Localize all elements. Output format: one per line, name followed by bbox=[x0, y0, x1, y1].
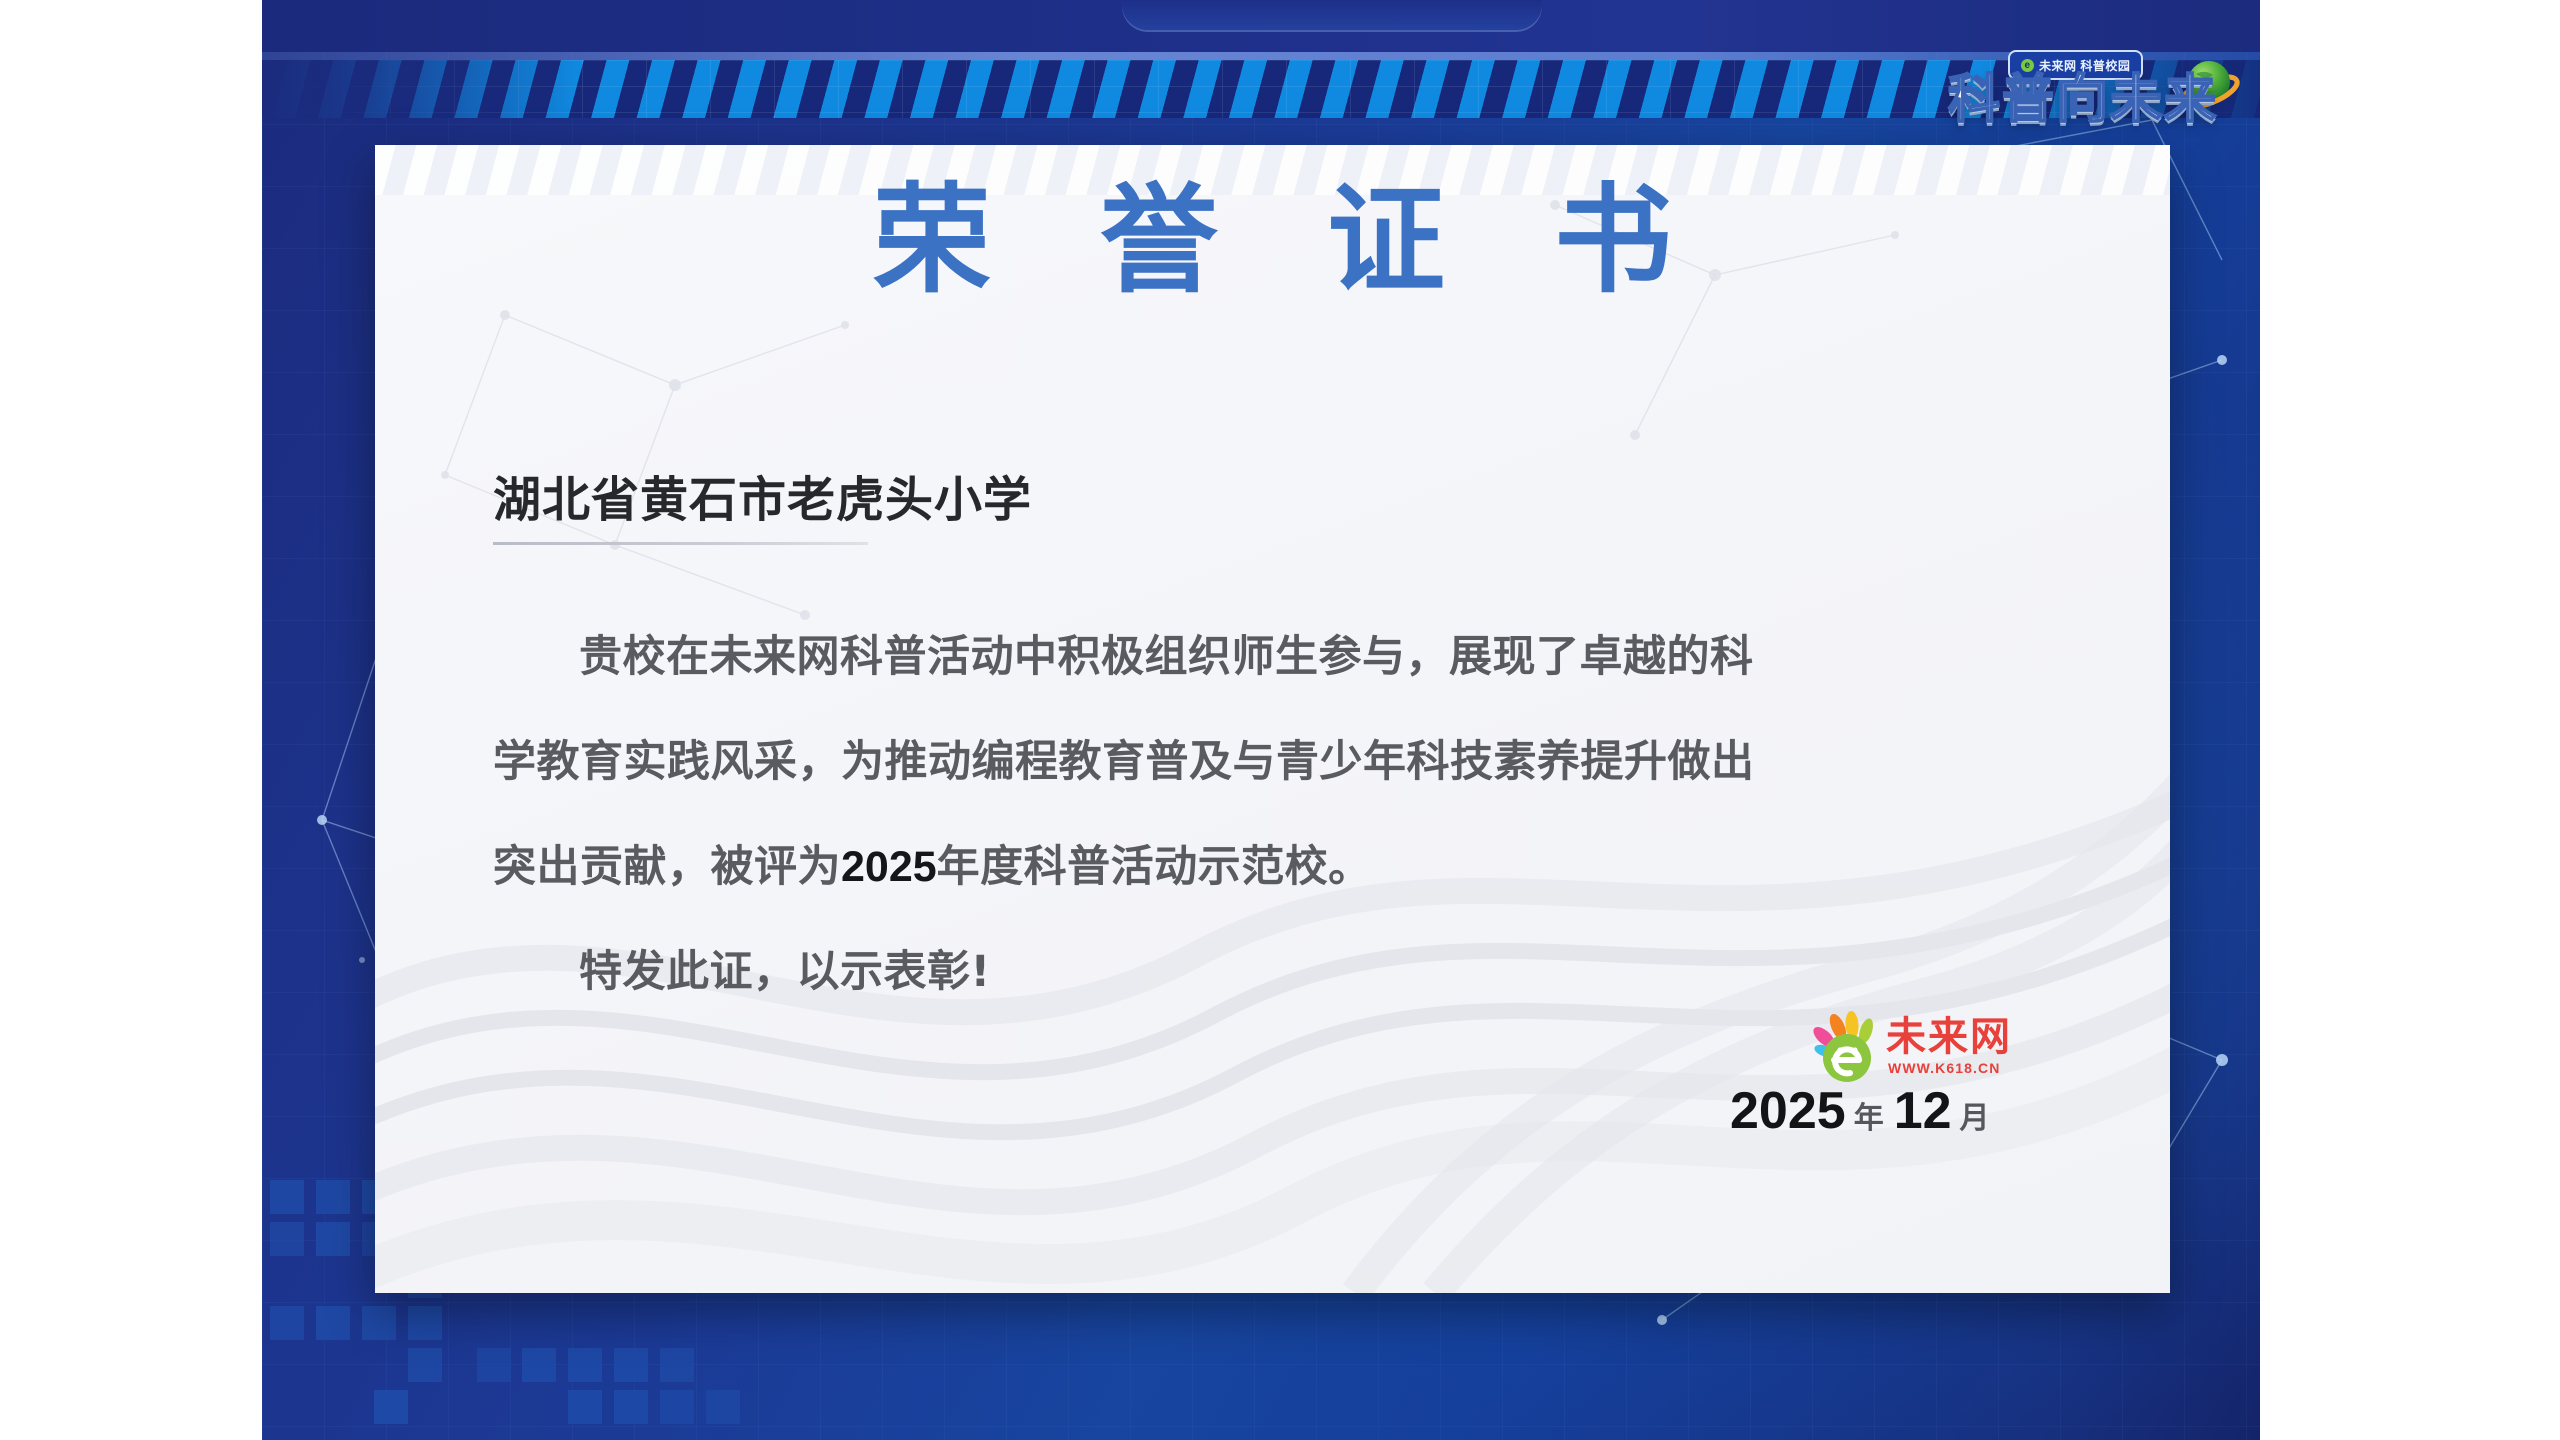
issuer-name: 未来网 bbox=[1886, 1017, 2012, 1057]
body-line-3: 突出贡献，被评为2025年度科普活动示范校。 bbox=[493, 815, 2053, 920]
certificate-body: 贵校在未来网科普活动中积极组织师生参与，展现了卓越的科 学教育实践风采，为推动编… bbox=[493, 605, 2053, 1025]
certificate-title: 荣 誉 证 书 bbox=[375, 167, 2170, 315]
certificate-card: 荣 誉 证 书 湖北省黄石市老虎头小学 贵校在未来网科普活动中积极组织师生参与，… bbox=[375, 145, 2170, 1293]
award-year: 2025 bbox=[841, 843, 937, 891]
date-year: 2025 bbox=[1730, 1082, 1846, 1140]
date-year-unit: 年 bbox=[1854, 1101, 1884, 1136]
campaign-wordmark: 科普向未来 bbox=[1948, 74, 2248, 126]
campaign-logo: e 未来网 科普校园 科普向未来 bbox=[1948, 48, 2248, 158]
date-month: 12 bbox=[1894, 1082, 1952, 1140]
issuer-url: WWW.K618.CN bbox=[1888, 1061, 2000, 1075]
recipient-underline bbox=[493, 542, 868, 545]
date-month-unit: 月 bbox=[1960, 1101, 1990, 1136]
body-line-3-part-a: 突出贡献，被评为 bbox=[493, 842, 841, 892]
recipient-name: 湖北省黄石市老虎头小学 bbox=[493, 470, 1253, 530]
body-line-1: 贵校在未来网科普活动中积极组织师生参与，展现了卓越的科 bbox=[493, 605, 2053, 710]
recipient-block: 湖北省黄石市老虎头小学 bbox=[493, 470, 1253, 545]
certificate-screenshot: e 未来网 科普校园 科普向未来 bbox=[0, 0, 2560, 1440]
body-line-3-part-b: 年度科普活动示范校。 bbox=[937, 842, 1372, 892]
weilai-e-icon: e bbox=[2021, 59, 2034, 72]
body-line-2: 学教育实践风采，为推动编程教育普及与青少年科技素养提升做出 bbox=[493, 710, 2053, 815]
header-notch-shape bbox=[1122, 0, 1542, 30]
issuer-logo: 未来网 WWW.K618.CN bbox=[1800, 1005, 2035, 1085]
certificate-date: 2025年12月 bbox=[1730, 1085, 2090, 1137]
